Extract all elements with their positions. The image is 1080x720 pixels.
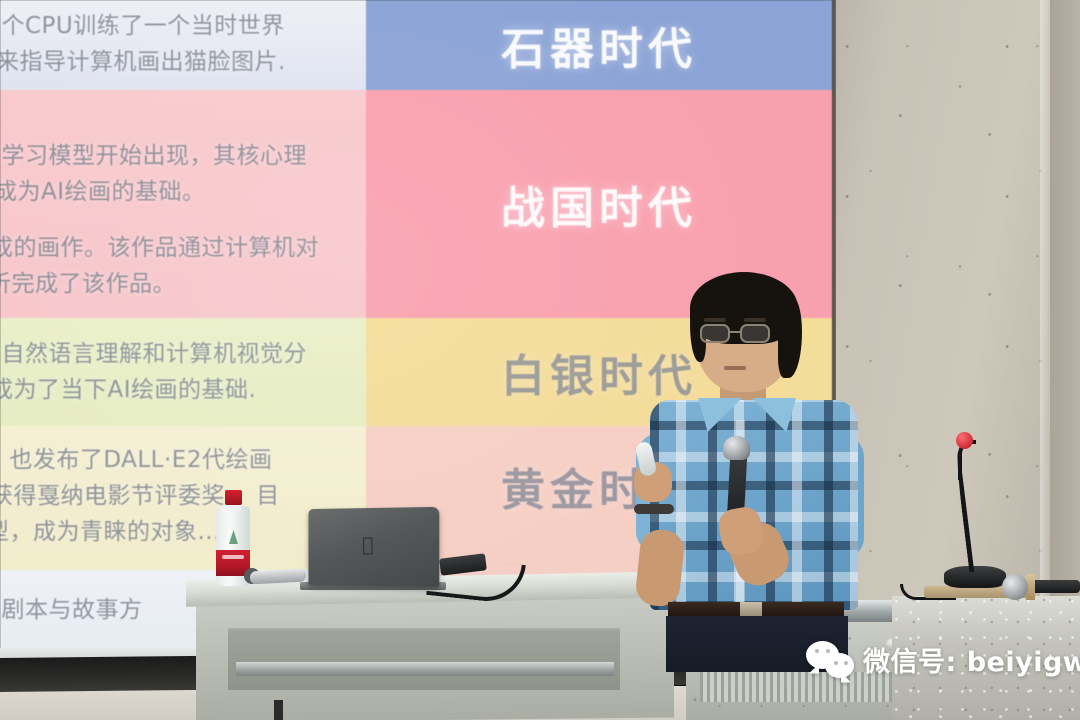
- glasses-lens-left: [700, 324, 730, 343]
- presenter-mouth: [724, 366, 746, 370]
- slide-row-0-right: 石器时代: [366, 0, 832, 90]
- presenter: [636, 272, 876, 668]
- era-title-0: 石器时代: [366, 13, 832, 77]
- watermark-text: 微信号: beiyigw: [863, 640, 1080, 679]
- podium-leg: [274, 700, 283, 720]
- wechat-eye: [815, 649, 819, 653]
- wall-panel-right: [1050, 0, 1080, 660]
- slide-row-2-left: 行自然语言理解和计算机视觉分 成为了当下AI绘画的基础.: [0, 318, 366, 426]
- slide-row-0-line-1: 来指导计算机画出猫脸图片.: [0, 44, 352, 81]
- slide-row-1-line-3: 成的画作。该作品通过计算机对: [0, 230, 352, 267]
- era-title-1: 战国时代: [366, 172, 832, 236]
- wechat-bubble-small: [825, 653, 854, 678]
- wall-seam: [1040, 0, 1050, 660]
- slide-row-2-line-0: 行自然语言理解和计算机视觉分: [0, 336, 352, 373]
- presenter-eyebrow-left: [704, 318, 726, 322]
- apple-logo: : [362, 536, 379, 556]
- slide-row-1-line-0: 度学习模型开始出现，其核心理: [0, 138, 352, 175]
- glasses-lens-right: [740, 324, 770, 343]
- slide-row-3-line-1: 获得戛纳电影节评委奖。 目: [0, 478, 352, 515]
- slide-row-3-line-0: AI 也发布了DALL·E2代绘画: [0, 442, 352, 479]
- watermark: 微信号: beiyigw: [806, 640, 1080, 679]
- lecture-photo: 万个CPU训练了一个当时世界 来指导计算机画出猫脸图片. 石器时代 度学习模型开…: [0, 0, 1080, 720]
- slide-row-0-left: 万个CPU训练了一个当时世界 来指导计算机画出猫脸图片.: [0, 0, 366, 90]
- spare-mic-grille: [1002, 574, 1028, 600]
- slide-row-0: 万个CPU训练了一个当时世界 来指导计算机画出猫脸图片. 石器时代: [0, 0, 832, 90]
- slide-row-1-line-1: 成为AI绘画的基础。: [0, 174, 352, 211]
- wechat-icon: [806, 641, 854, 679]
- podium-drawer[interactable]: [228, 628, 620, 690]
- wristwatch: [634, 504, 674, 514]
- presenter-eyebrow-right: [744, 318, 766, 322]
- glasses-bridge: [730, 331, 742, 333]
- presenter-hair-right: [778, 296, 802, 378]
- slide-row-3-line-2: 型，成为青睐的对象......: [0, 514, 352, 551]
- slide-row-1-line-4: 析完成了该作品。: [0, 266, 352, 303]
- slide-row-2-line-1: 成为了当下AI绘画的基础.: [0, 372, 352, 409]
- wechat-eye: [834, 661, 838, 665]
- bottle-cap: [225, 490, 242, 505]
- bottle-label-text: [222, 555, 244, 559]
- slide-row-1-left: 度学习模型开始出现，其核心理 成为AI绘画的基础。 成的画作。该作品通过计算机对…: [0, 90, 366, 318]
- gooseneck-mic-indicator[interactable]: [956, 432, 973, 449]
- wechat-eye: [826, 649, 830, 653]
- macbook-laptop[interactable]: : [308, 507, 439, 587]
- microphone-grille: [723, 436, 750, 460]
- wechat-eye: [844, 661, 848, 665]
- slide-row-0-line-0: 万个CPU训练了一个当时世界: [0, 8, 352, 45]
- podium-drawer-rail: [236, 662, 614, 676]
